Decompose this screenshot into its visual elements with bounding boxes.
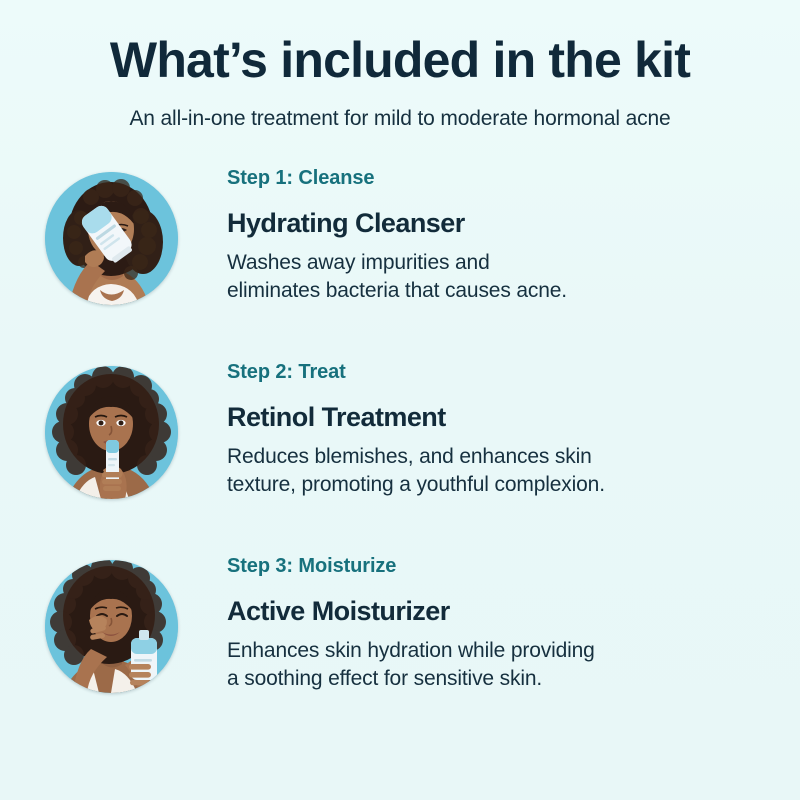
- step-photo-moisturize: [45, 560, 178, 693]
- step-photo-cleanse: [45, 172, 178, 305]
- page-title: What’s included in the kit: [0, 34, 800, 87]
- header: What’s included in the kit An all-in-one…: [0, 0, 800, 132]
- page-subtitle: An all-in-one treatment for mild to mode…: [0, 106, 800, 132]
- step-item: Step 3: Moisturize Active Moisturizer En…: [0, 554, 800, 693]
- product-description: Washes away impurities and eliminates ba…: [227, 249, 567, 304]
- step-item: Step 1: Cleanse Hydrating Cleanser Washe…: [0, 166, 800, 305]
- steps-list: Step 1: Cleanse Hydrating Cleanser Washe…: [0, 166, 800, 693]
- product-name: Retinol Treatment: [227, 402, 605, 433]
- product-name: Hydrating Cleanser: [227, 208, 567, 239]
- step-photo-wrapper: [45, 366, 178, 499]
- step-text: Step 2: Treat Retinol Treatment Reduces …: [178, 360, 605, 498]
- product-description: Reduces blemishes, and enhances skin tex…: [227, 443, 605, 498]
- step-label: Step 3: Moisturize: [227, 554, 595, 578]
- step-photo-wrapper: [45, 172, 178, 305]
- step-label: Step 1: Cleanse: [227, 166, 567, 190]
- step-photo-wrapper: [45, 560, 178, 693]
- step-text: Step 3: Moisturize Active Moisturizer En…: [178, 554, 595, 692]
- kit-overview-graphic: What’s included in the kit An all-in-one…: [0, 0, 800, 800]
- product-description: Enhances skin hydration while providing …: [227, 637, 595, 692]
- step-item: Step 2: Treat Retinol Treatment Reduces …: [0, 360, 800, 499]
- step-text: Step 1: Cleanse Hydrating Cleanser Washe…: [178, 166, 567, 304]
- step-photo-treat: [45, 366, 178, 499]
- step-label: Step 2: Treat: [227, 360, 605, 384]
- product-name: Active Moisturizer: [227, 596, 595, 627]
